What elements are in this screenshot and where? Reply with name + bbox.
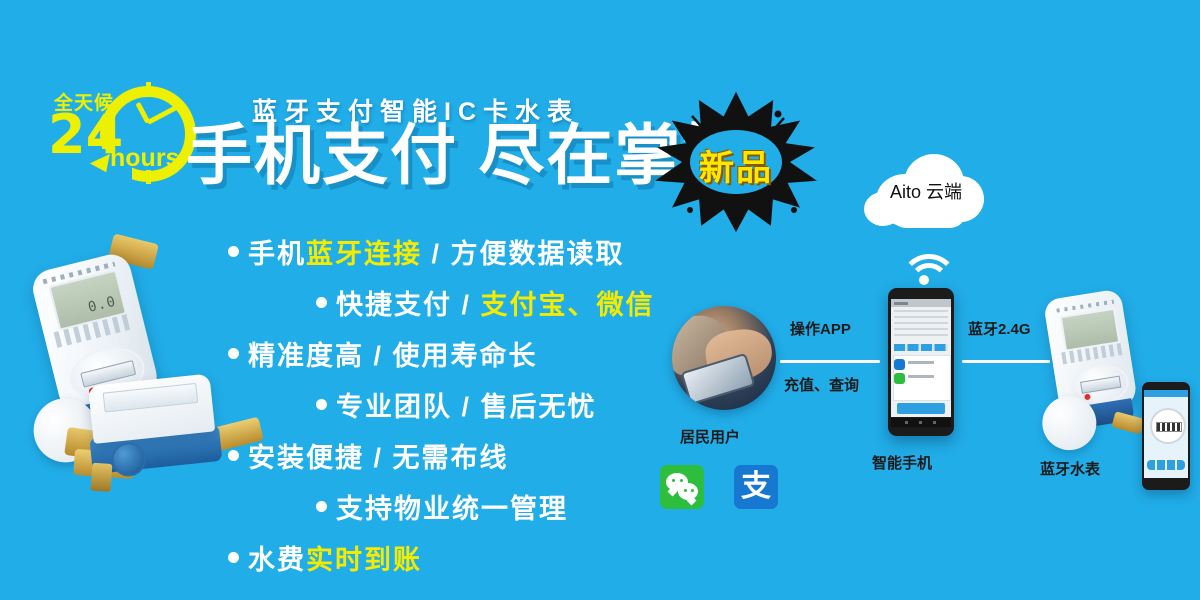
alipay-glyph: 支 [741,472,771,502]
wechat-pay-icon [660,465,704,509]
bullet-dot-icon [316,297,327,308]
feature-text: 精准度高 / 使用寿命长 [248,341,538,371]
resident-user-photo [672,306,776,410]
badge-hours-text: hours [110,144,179,173]
list-item: 水费实时到账 [228,538,698,577]
label-app-operation: 操作APP [790,318,851,339]
label-smart-phone: 智能手机 [872,452,932,473]
clock-tick-top [146,82,151,96]
list-item: 专业团队 / 售后无忧 [316,385,698,424]
label-bluetooth-water-meter: 蓝牙水表 [1040,458,1100,479]
promo-banner: 全天候 24 hours 蓝牙支付智能IC卡水表 手机支付 尽在掌握 新品 手机… [0,0,1200,600]
cloud-label: Aito 云端 [862,178,990,204]
feature-text: 安装便捷 / 无需布线 [248,443,509,473]
feature-text: 支持物业统一管理 [336,494,568,524]
all-day-24hours-badge: 全天候 24 hours [48,82,198,190]
feature-text: 专业团队 / 售后无忧 [336,392,597,422]
list-item: 手机蓝牙连接 / 方便数据读取 [228,232,698,271]
bullet-dot-icon [228,552,239,563]
feature-highlight: 实时到账 [306,545,422,575]
wifi-icon [900,252,948,284]
label-resident-user: 居民用户 [680,426,740,447]
list-item: 安装便捷 / 无需布线 [228,436,698,475]
feature-highlight: 支付宝、微信 [481,290,655,320]
phone-confirm-button [897,403,945,414]
cloud-node: Aito 云端 [862,152,990,230]
app-action-buttons [1147,460,1185,470]
smart-phone-mockup [888,288,954,436]
bullet-dot-icon [316,399,327,410]
label-recharge-query: 充值、查询 [784,374,859,395]
bluetooth-water-meter-product [1020,280,1162,456]
product-valve-control-water-meter [66,368,273,513]
bullet-dot-icon [228,348,239,359]
bullet-dot-icon [228,246,239,257]
list-item: 精准度高 / 使用寿命长 [228,334,698,373]
phone-screen [1144,390,1188,478]
feature-text: 水费 [248,545,306,575]
feature-list: 手机蓝牙连接 / 方便数据读取 快捷支付 / 支付宝、微信 精准度高 / 使用寿… [228,232,698,577]
alipay-icon: 支 [734,465,778,509]
connector-phone-to-meter [962,360,1050,363]
meter-app-phone-mockup [1142,382,1190,490]
list-item: 快捷支付 / 支付宝、微信 [316,283,698,322]
feature-text: 手机 [248,239,306,269]
list-item: 支持物业统一管理 [316,487,698,526]
brass-fitting [1111,411,1144,434]
feature-highlight: 蓝牙连接 [306,239,422,269]
feature-suffix: / 方便数据读取 [422,239,625,269]
new-product-starburst-badge: 新品 [652,88,820,236]
brass-nut [91,463,113,492]
new-product-label: 新品 [652,140,820,191]
connector-user-to-phone [780,360,880,363]
feature-text: 快捷支付 / [336,290,481,320]
meter-reading-dial [1150,408,1186,444]
bullet-dot-icon [316,501,327,512]
phone-screen [891,299,951,417]
label-bluetooth-24g: 蓝牙2.4G [968,318,1031,339]
phone-nav-bar [891,418,951,427]
